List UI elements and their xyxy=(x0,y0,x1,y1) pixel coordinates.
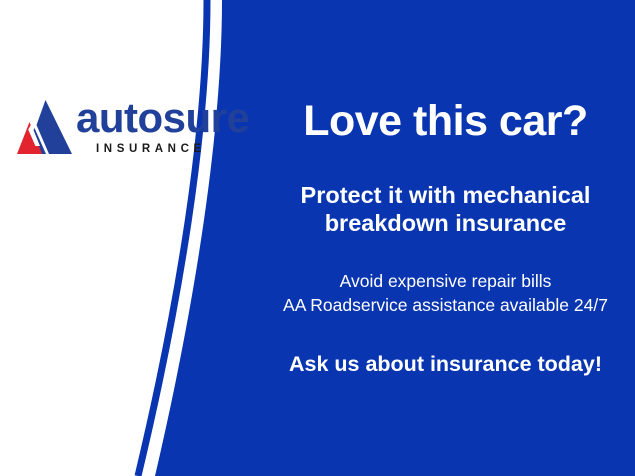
brand-logo: autosure INSURANCE xyxy=(14,96,224,168)
call-to-action: Ask us about insurance today! xyxy=(256,351,635,377)
benefit-line-2: AA Roadservice assistance available 24/7 xyxy=(283,295,608,315)
headline: Love this car? xyxy=(256,97,635,145)
subheadline: Protect it with mechanical breakdown ins… xyxy=(256,181,635,237)
brand-tagline: INSURANCE xyxy=(96,142,206,156)
benefits-list: Avoid expensive repair bills AA Roadserv… xyxy=(256,269,635,317)
brand-wordmark: autosure xyxy=(76,94,249,142)
subheadline-line-1: Protect it with mechanical xyxy=(301,182,591,208)
copy-panel: Love this car? Protect it with mechanica… xyxy=(256,0,635,476)
subheadline-line-2: breakdown insurance xyxy=(325,210,567,236)
autosure-triangle-mark-icon xyxy=(14,98,74,156)
advertisement-banner: autosure INSURANCE Love this car? Protec… xyxy=(0,0,635,476)
benefit-line-1: Avoid expensive repair bills xyxy=(340,271,552,291)
